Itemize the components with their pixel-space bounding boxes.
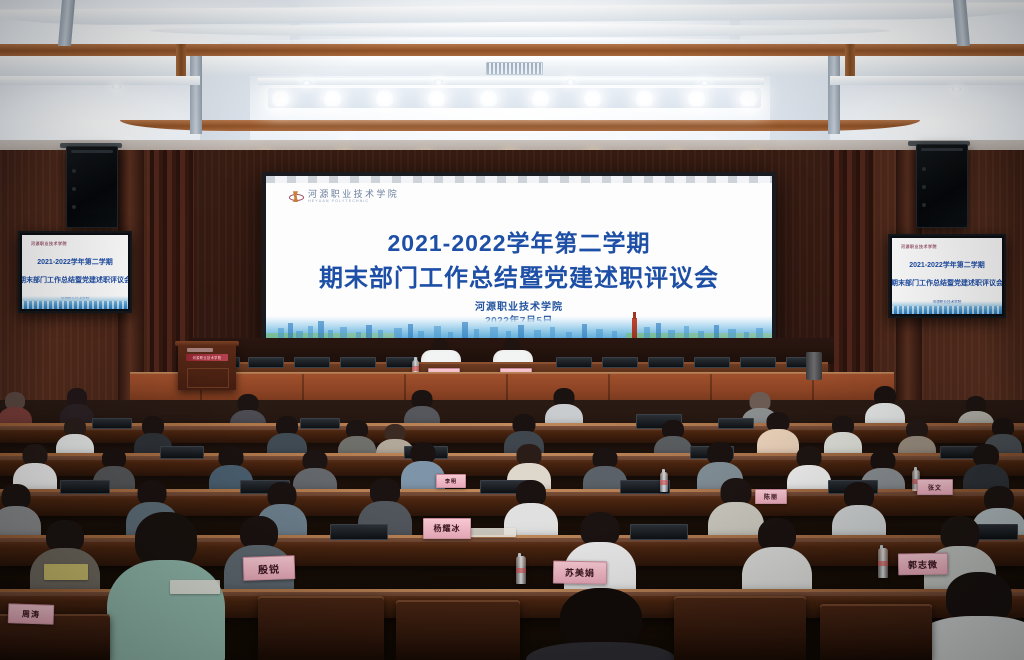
- right-display-line1: 2021-2022学年第二学期: [909, 260, 984, 270]
- audience-placard: 张文: [917, 479, 953, 495]
- school-logo-name-cn: 河源职业技术学院: [308, 190, 399, 199]
- floor-stand: [806, 352, 822, 380]
- slide-organization: 河源职业技术学院: [266, 298, 772, 313]
- school-logo-mark: [288, 190, 303, 203]
- seat-back: [820, 604, 932, 660]
- projector-scanline: [266, 176, 772, 183]
- presentation-slide: 河源职业技术学院 HEYUAN POLYTECHNIC 2021-2022学年第…: [266, 176, 772, 342]
- water-bottle: [660, 472, 668, 492]
- slide-title-line1: 2021-2022学年第二学期: [266, 224, 772, 258]
- water-bottle: [878, 548, 888, 578]
- conference-hall-photo: 河源职业技术学院 2021-2022学年第二学期 期末部门工作总结暨党建述职评议…: [0, 0, 1024, 660]
- audience-person-foreground: [536, 588, 666, 660]
- left-side-display: 河源职业技术学院 2021-2022学年第二学期 期末部门工作总结暨党建述职评议…: [18, 231, 132, 313]
- document-papers: [470, 528, 516, 537]
- school-logo-name-en: HEYUAN POLYTECHNIC: [308, 200, 399, 204]
- audience-placard: 李明: [436, 474, 466, 488]
- water-bottle: [516, 556, 526, 584]
- right-side-display: 河源职业技术学院 2021-2022学年第二学期 期末部门工作总结暨党建述职评议…: [888, 234, 1006, 318]
- right-display-line2: 期末部门工作总结暨党建述职评议会: [892, 278, 1002, 288]
- left-display-line2: 期末部门工作总结暨党建述职评议会: [22, 275, 128, 285]
- podium-sign-text: 河源职业技术学院: [193, 355, 222, 360]
- document-papers: [170, 580, 220, 594]
- podium: 河源职业技术学院: [178, 344, 236, 390]
- slide-title-line2: 期末部门工作总结暨党建述职评议会: [266, 258, 772, 293]
- main-projection-screen: 河源职业技术学院 HEYUAN POLYTECHNIC 2021-2022学年第…: [262, 172, 776, 346]
- ceiling-light-bar: [268, 88, 761, 108]
- left-speaker: [66, 146, 118, 228]
- podium-sign: 河源职业技术学院: [186, 354, 228, 361]
- air-vent-icon: [486, 62, 543, 75]
- seat-back: [258, 596, 384, 660]
- left-display-line1: 2021-2022学年第二学期: [37, 257, 112, 267]
- left-display-logo: 河源职业技术学院: [31, 241, 67, 247]
- right-speaker: [916, 144, 968, 228]
- audience-placard: 周涛: [8, 603, 55, 625]
- audience-placard: 苏美娟: [553, 561, 607, 585]
- document-papers: [44, 564, 88, 580]
- seat-back: [396, 600, 520, 660]
- ceiling: [0, 0, 1024, 152]
- right-display-logo: 河源职业技术学院: [901, 244, 937, 250]
- seat-back: [674, 596, 806, 660]
- audience-person-foreground: [924, 572, 1024, 660]
- audience-placard: 殷锐: [243, 555, 296, 581]
- audience-placard: 杨耀冰: [423, 518, 471, 539]
- school-logo: 河源职业技术学院 HEYUAN POLYTECHNIC: [288, 190, 399, 204]
